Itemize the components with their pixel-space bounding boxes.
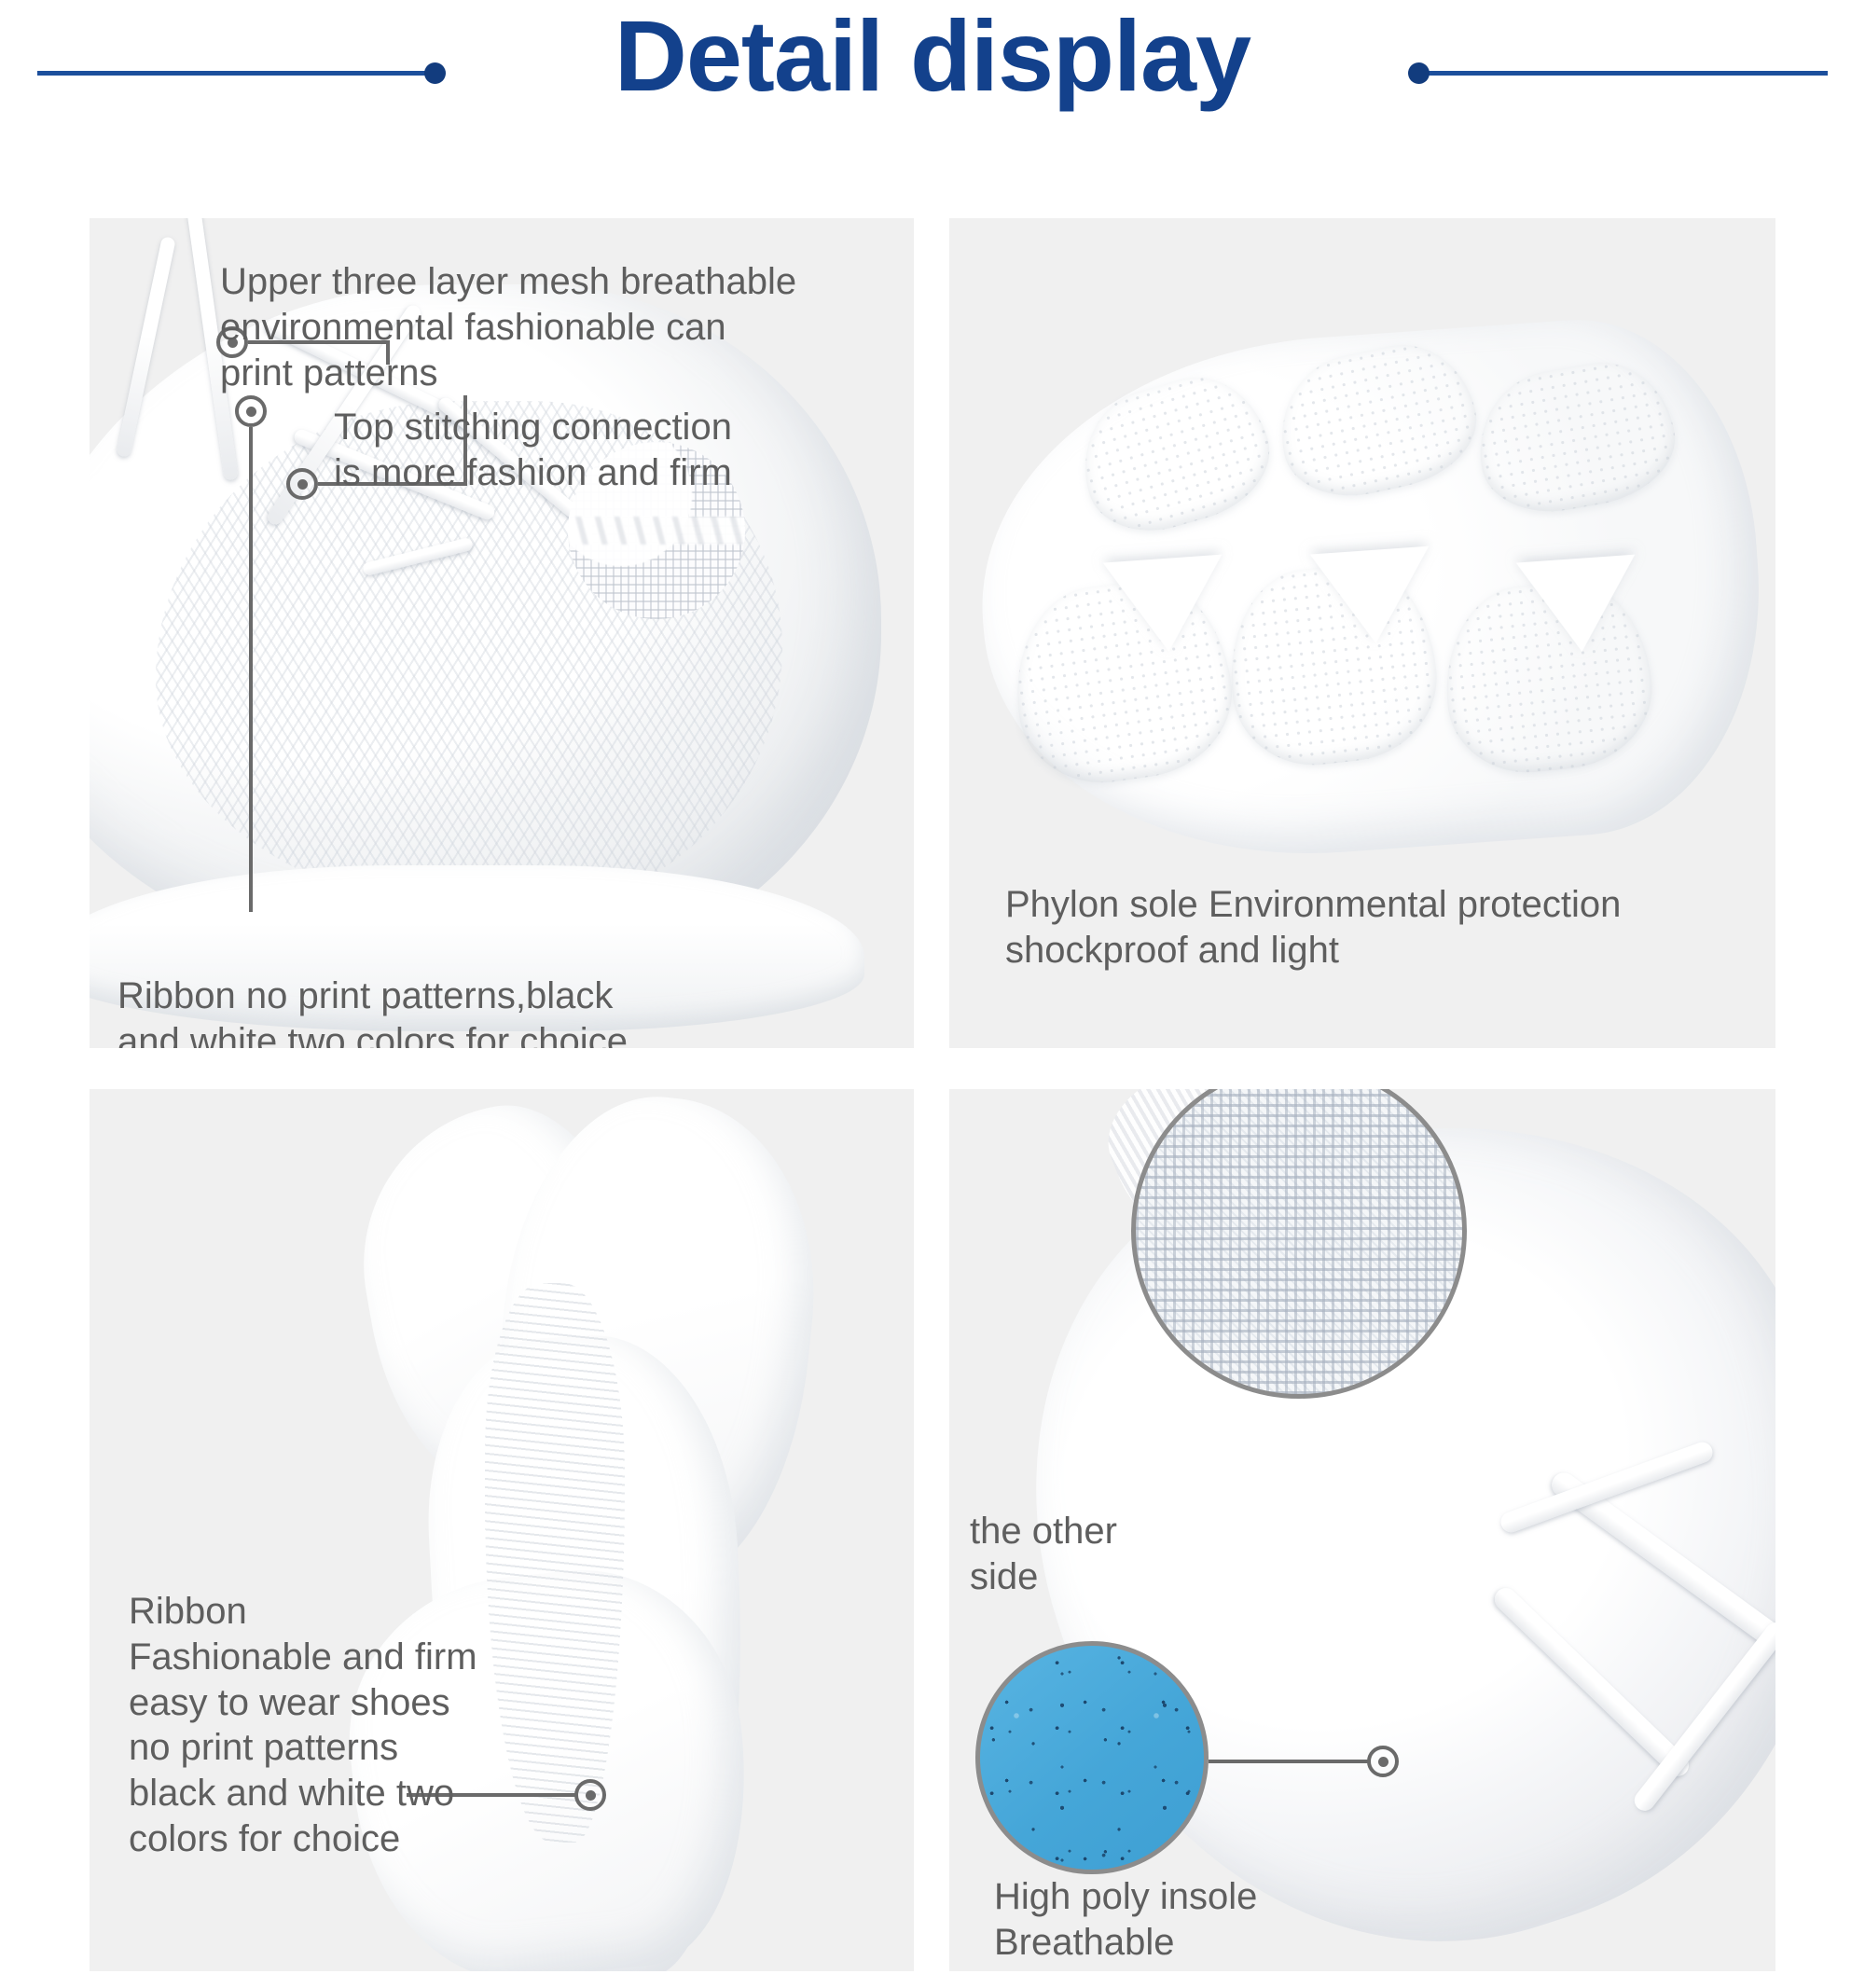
ribbon-collar-panel: Ribbon Fashionable and firm easy to wear… (90, 1089, 914, 1971)
caption-phylon-sole: Phylon sole Environmental protection sho… (1005, 882, 1751, 973)
page-header: Detail display (0, 0, 1865, 168)
leader-ribbon-no-print (249, 427, 253, 912)
callout-upper-three-layer: Upper three layer mesh breathable enviro… (220, 259, 798, 395)
callout-top-stitching: Top stitching connection is more fashion… (334, 405, 781, 496)
callout-high-poly-insole: High poly insole Breathable Deodorant (994, 1874, 1386, 1971)
detail-panel-grid: Upper three layer mesh breathable enviro… (90, 218, 1775, 1971)
marker-ribbon-fashionable[interactable] (574, 1779, 606, 1811)
upper-mesh-panel: Upper three layer mesh breathable enviro… (90, 218, 914, 1048)
page-title: Detail display (0, 0, 1865, 118)
phylon-sole-panel: Phylon sole Environmental protection sho… (949, 218, 1775, 1048)
callout-ribbon-no-print: Ribbon no print patterns,black and white… (117, 973, 714, 1048)
insole-panel: the other side High poly insole Breathab… (949, 1089, 1775, 1971)
blue-insole-closeup-circle (975, 1641, 1209, 1874)
marker-top-stitching[interactable] (286, 468, 318, 500)
callout-other-side: the other side (970, 1509, 1212, 1600)
marker-ribbon-no-print[interactable] (235, 395, 267, 427)
leader-high-poly-insole (1209, 1760, 1371, 1763)
marker-high-poly-insole[interactable] (1367, 1746, 1399, 1777)
callout-ribbon-fashionable: Ribbon Fashionable and firm easy to wear… (129, 1589, 558, 1862)
